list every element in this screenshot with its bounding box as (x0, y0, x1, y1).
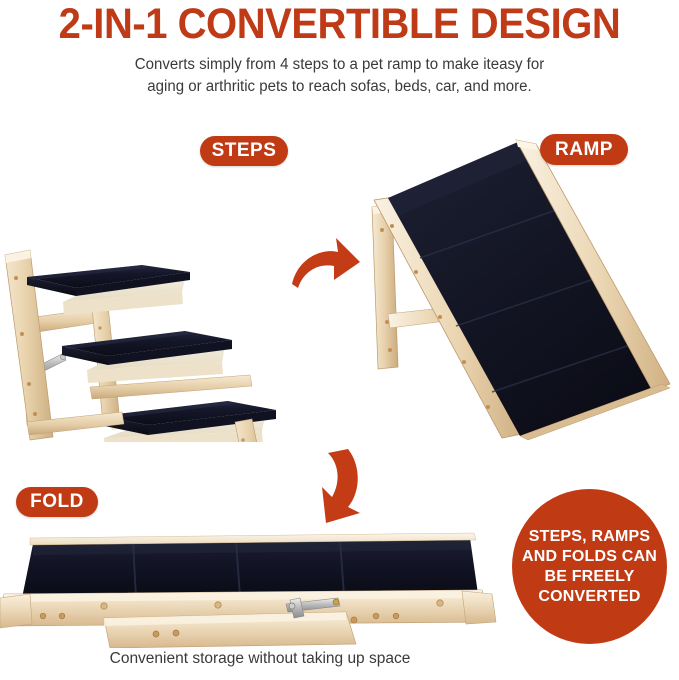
callout-line-2: AND FOLDS CAN (522, 547, 657, 567)
badge-fold: FOLD (16, 487, 98, 517)
product-image-ramp (352, 122, 679, 444)
step-tread-1 (27, 265, 190, 315)
callout-line-1: STEPS, RAMPS (529, 527, 651, 547)
arrow-down-icon (292, 443, 378, 529)
callout-line-4: CONVERTED (538, 587, 640, 607)
folded-leg-board (104, 612, 357, 648)
callout-line-3: BE FREELY (544, 567, 634, 587)
page-subtitle: Converts simply from 4 steps to a pet ra… (10, 54, 669, 98)
bottom-caption: Convenient storage without taking up spa… (0, 650, 520, 668)
callout-circle: STEPS, RAMPS AND FOLDS CAN BE FREELY CON… (512, 489, 667, 644)
subtitle-line-1: Converts simply from 4 steps to a pet ra… (10, 54, 669, 76)
page-title: 2-IN-1 CONVERTIBLE DESIGN (24, 2, 655, 46)
product-image-folded (0, 520, 500, 648)
header: 2-IN-1 CONVERTIBLE DESIGN Converts simpl… (0, 0, 679, 110)
badge-steps: STEPS (200, 136, 288, 166)
badge-ramp: RAMP (540, 134, 628, 165)
product-image-steps (0, 122, 330, 442)
subtitle-line-2: aging or arthritic pets to reach sofas, … (10, 76, 669, 98)
folded-carpet-panels (22, 538, 478, 598)
step-tread-2 (62, 331, 232, 383)
